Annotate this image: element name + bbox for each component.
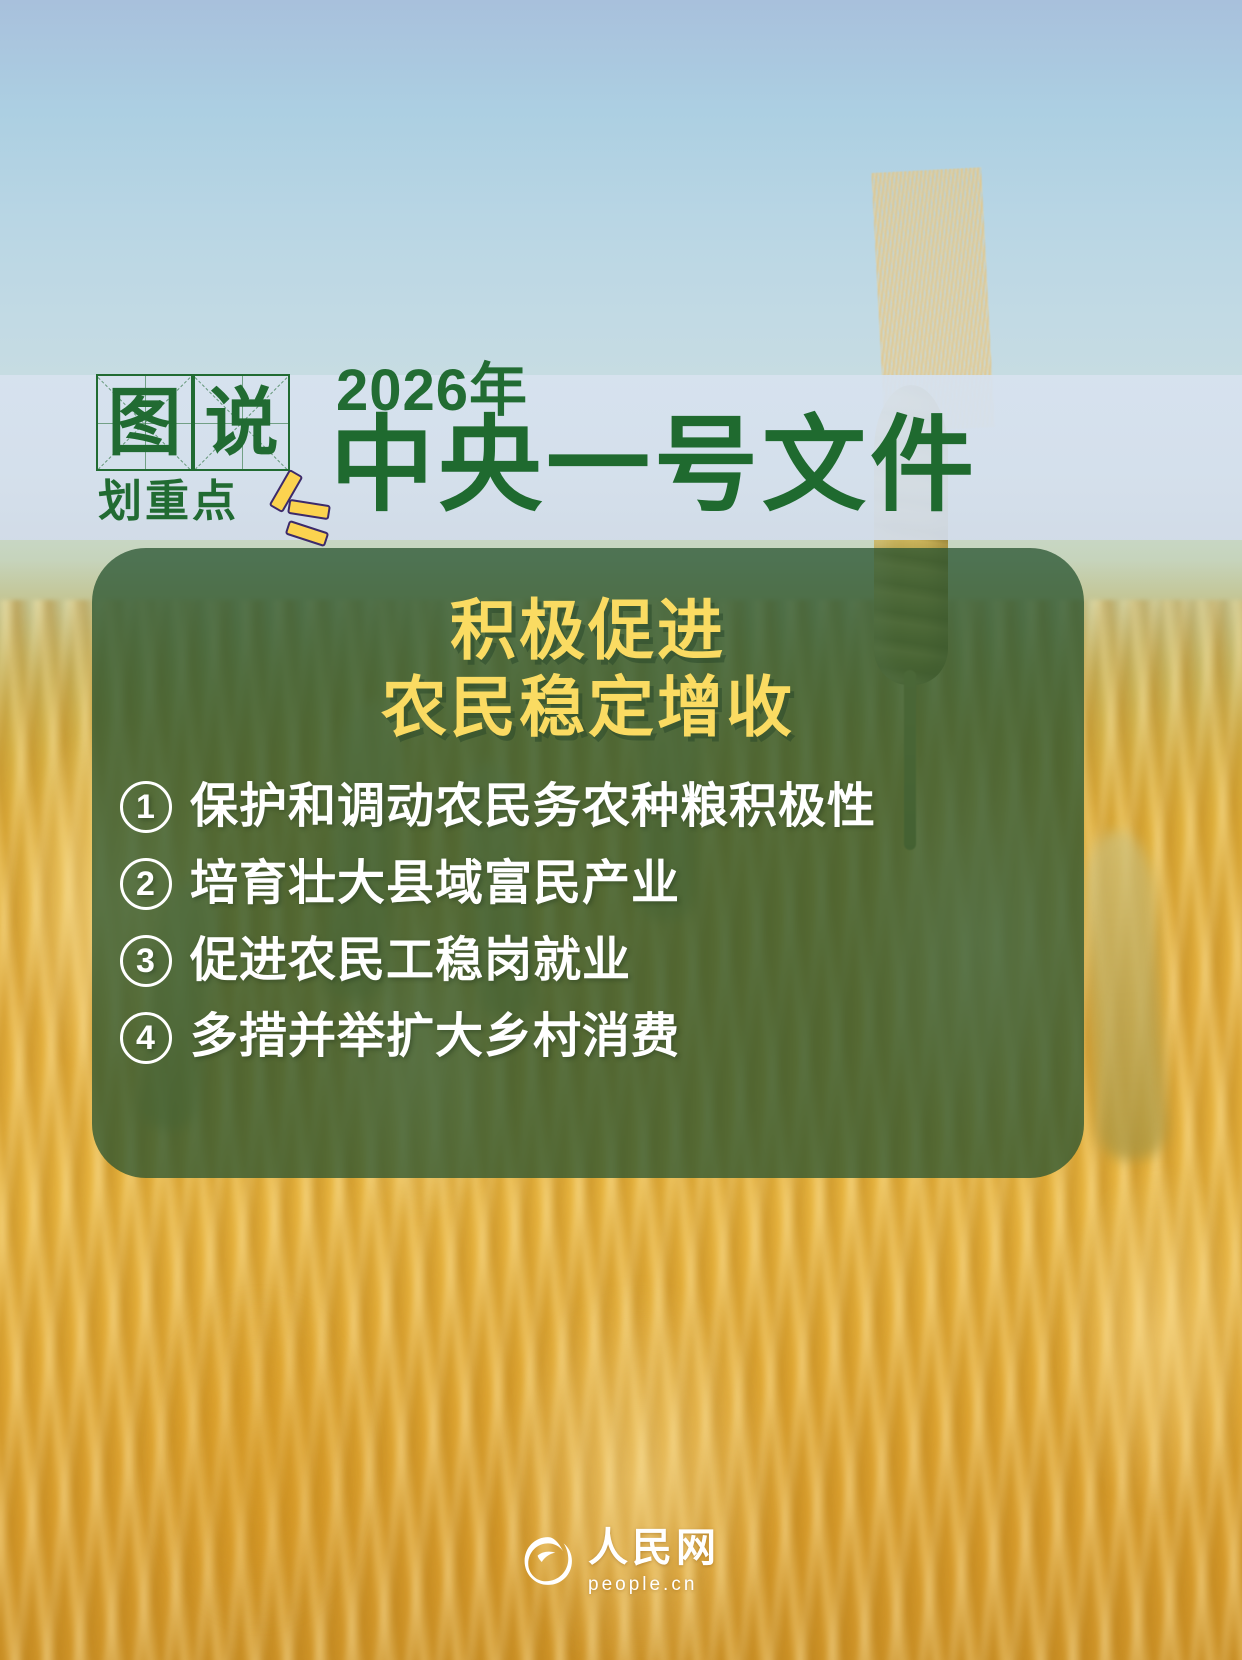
slash-mark — [285, 520, 330, 547]
bullet-number: 3 — [120, 935, 172, 987]
list-item: 1 保护和调动农民务农种粮积极性 — [92, 781, 1084, 834]
bullet-text: 保护和调动农民务农种粮积极性 — [190, 781, 876, 834]
content-card-inner: 积极促进 农民稳定增收 1 保护和调动农民务农种粮积极性 2 培育壮大县域富民产… — [92, 548, 1084, 1178]
bullet-text: 多措并举扩大乡村消费 — [190, 1011, 680, 1064]
footer-brand-cn: 人民网 — [588, 1528, 720, 1568]
tushuo-logo-cell-2: 说 — [193, 374, 290, 471]
list-item: 2 培育壮大县域富民产业 — [92, 858, 1084, 911]
footer-brand-text: 人民网 people.cn — [588, 1528, 720, 1594]
bullet-number: 1 — [120, 781, 172, 833]
slash-mark — [287, 499, 331, 520]
bullet-text: 培育壮大县域富民产业 — [190, 858, 680, 911]
people-cn-swoosh-icon — [522, 1535, 574, 1587]
bullet-text: 促进农民工稳岗就业 — [190, 935, 631, 988]
page-title: 中央一号文件 — [330, 414, 978, 518]
card-heading-line2: 农民稳定增收 — [92, 669, 1084, 746]
bullet-number: 2 — [120, 858, 172, 910]
tushuo-logo: 图 说 — [96, 374, 290, 471]
card-heading-line1: 积极促进 — [450, 593, 726, 667]
tushuo-logo-cell-1: 图 — [96, 374, 193, 471]
list-item: 3 促进农民工稳岗就业 — [92, 935, 1084, 988]
footer-branding: 人民网 people.cn — [0, 1528, 1242, 1594]
bullet-list: 1 保护和调动农民务农种粮积极性 2 培育壮大县域富民产业 3 促进农民工稳岗就… — [92, 781, 1084, 1064]
bullet-number: 4 — [120, 1012, 172, 1064]
poster: 图 说 划重点 2026年 中央一号文件 积极促进 农民稳定增收 — [0, 0, 1242, 1660]
logo-subtitle: 划重点 — [98, 480, 239, 524]
tushuo-logo-char-2: 说 — [195, 376, 288, 469]
content-card: 积极促进 农民稳定增收 1 保护和调动农民务农种粮积极性 2 培育壮大县域富民产… — [92, 548, 1084, 1178]
tushuo-logo-char-1: 图 — [98, 376, 191, 469]
footer-brand-en: people.cn — [588, 1575, 720, 1594]
masthead: 图 说 划重点 2026年 中央一号文件 — [0, 352, 1242, 547]
list-item: 4 多措并举扩大乡村消费 — [92, 1011, 1084, 1064]
card-heading: 积极促进 农民稳定增收 — [92, 592, 1084, 745]
